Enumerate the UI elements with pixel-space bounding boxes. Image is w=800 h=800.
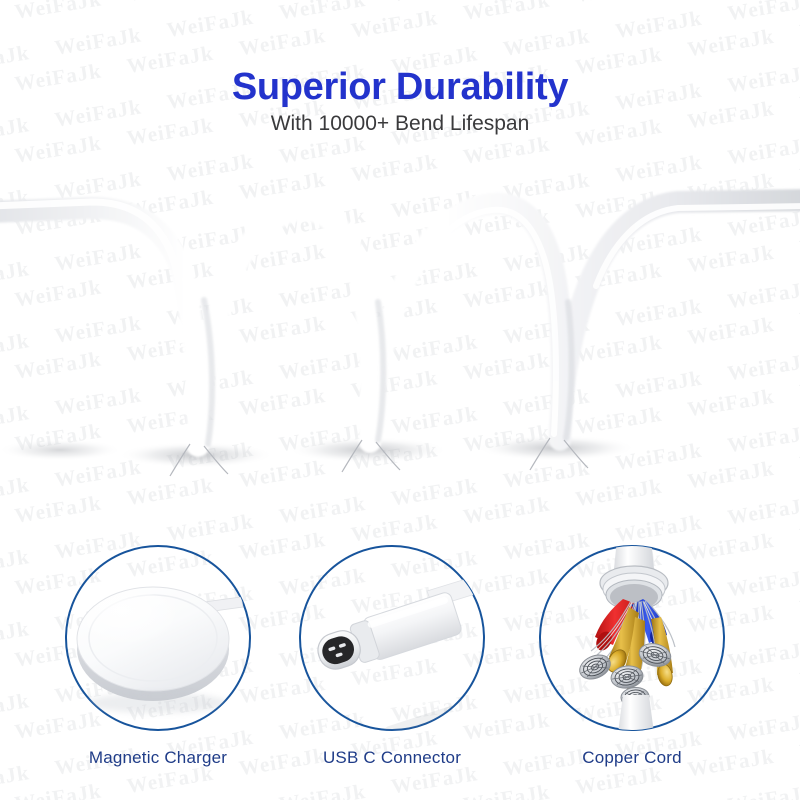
feature-magnetic-charger[interactable]: Magnetic Charger: [65, 540, 261, 790]
watermark-row: WeiFaJkWeiFaJkWeiFaJkWeiFaJkWeiFaJkWeiFa…: [0, 795, 800, 800]
feature-caption-1: Magnetic Charger: [35, 748, 281, 768]
usb-c-connector-icon: [299, 545, 485, 731]
hero-cable-illustration: [0, 150, 800, 510]
copper-cord-cutaway-icon: [539, 545, 725, 731]
product-feature-image: WeiFaJkWeiFaJkWeiFaJkWeiFaJkWeiFaJkWeiFa…: [0, 0, 800, 800]
feature-caption-3: Copper Cord: [509, 748, 755, 768]
cable-svg: [0, 150, 800, 510]
watermark-row: WeiFaJkWeiFaJkWeiFaJkWeiFaJkWeiFaJkWeiFa…: [0, 0, 800, 48]
feature-circle-3: [539, 545, 725, 731]
page-title: Superior Durability: [0, 66, 800, 109]
magnetic-charger-puck-icon: [65, 545, 251, 731]
feature-circle-1: [65, 545, 251, 731]
feature-circle-2: [299, 545, 485, 731]
feature-caption-2: USB C Connector: [269, 748, 515, 768]
cable-path: [0, 200, 800, 446]
watermark-row: WeiFaJkWeiFaJkWeiFaJkWeiFaJkWeiFaJkWeiFa…: [0, 0, 800, 12]
cable-shadows: [0, 435, 636, 468]
feature-usb-c-connector[interactable]: USB C Connector: [299, 540, 495, 790]
page-subtitle: With 10000+ Bend Lifespan: [0, 112, 800, 136]
feature-row: Magnetic Charger: [0, 540, 800, 790]
feature-copper-cord[interactable]: Copper Cord: [539, 540, 735, 790]
